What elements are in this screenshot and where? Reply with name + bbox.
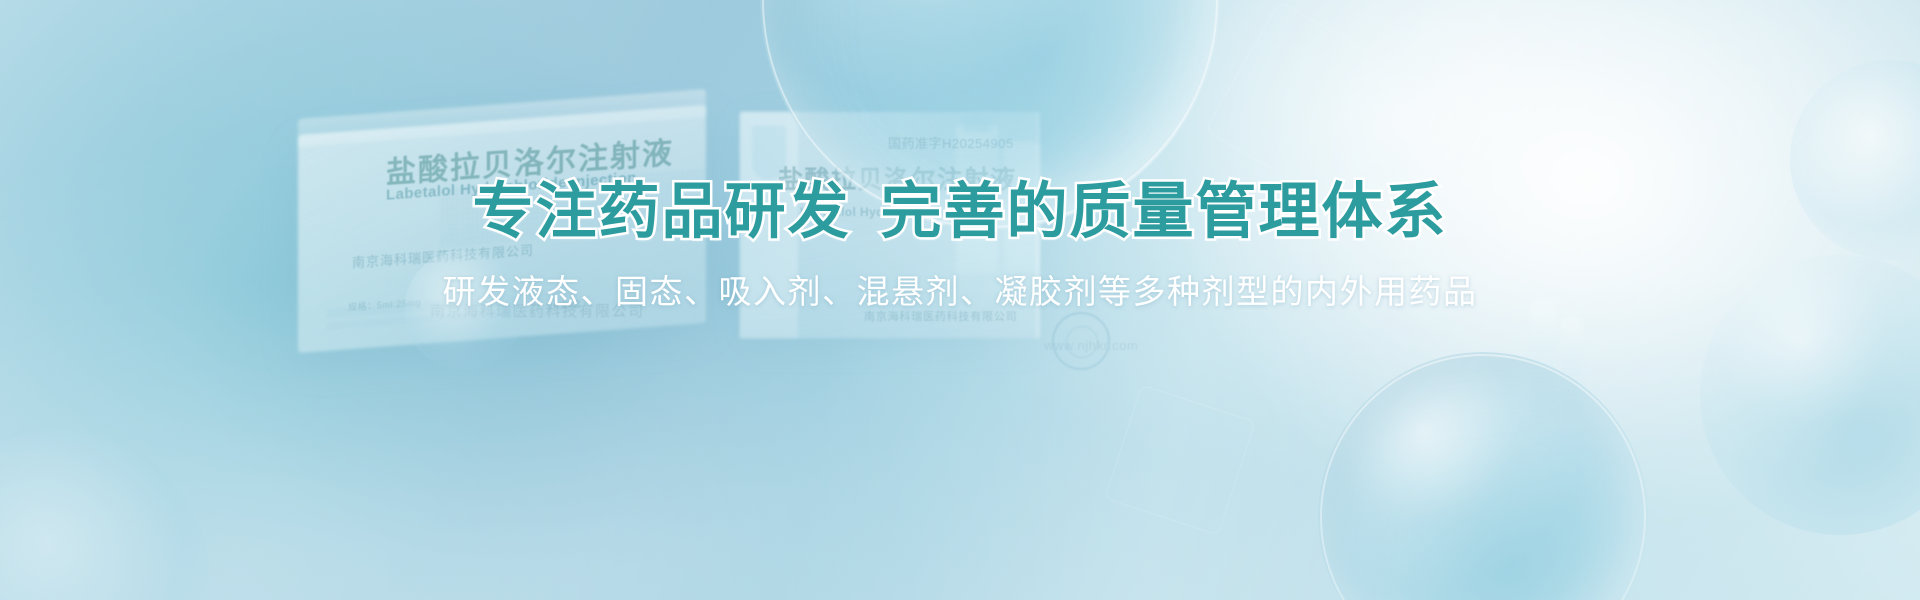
watermark-approval-number: 国药准字H20254905 bbox=[888, 133, 1014, 152]
hexagon-decoration-b bbox=[1104, 384, 1255, 535]
watermark-seal-icon bbox=[1052, 312, 1110, 370]
product-vial-d bbox=[1560, 318, 1582, 418]
background-wash-bottom bbox=[0, 280, 1920, 600]
product-carton-left-top bbox=[298, 89, 706, 147]
background-wash-mid bbox=[180, 60, 880, 580]
headline-part-2: 完善的质量管理体系 bbox=[881, 177, 1448, 245]
bubble-bottom-right bbox=[1318, 352, 1648, 600]
hero-banner: 盐酸拉贝洛尔注射液 Labetalol Hydrochloride Inject… bbox=[0, 0, 1920, 600]
product-vial-c bbox=[1530, 300, 1556, 420]
watermark-site-url: www.njhkr.com bbox=[1044, 338, 1139, 353]
bubble-bottom-right-ring bbox=[1320, 354, 1646, 600]
product-vial-a-cap bbox=[962, 112, 992, 132]
page-subtitle: 研发液态、固态、吸入剂、混悬剂、凝胶剂等多种剂型的内外用药品 bbox=[0, 265, 1920, 313]
hexagon-decoration-a bbox=[1205, 1, 1410, 206]
bubble-bottom-left bbox=[0, 430, 210, 600]
product-carton-right-notch bbox=[752, 126, 786, 180]
page-title: 专注药品研发完善的质量管理体系 bbox=[0, 178, 1920, 245]
hexagon-decoration-c bbox=[1585, 45, 1825, 285]
headline-part-1: 专注药品研发 bbox=[472, 177, 850, 245]
